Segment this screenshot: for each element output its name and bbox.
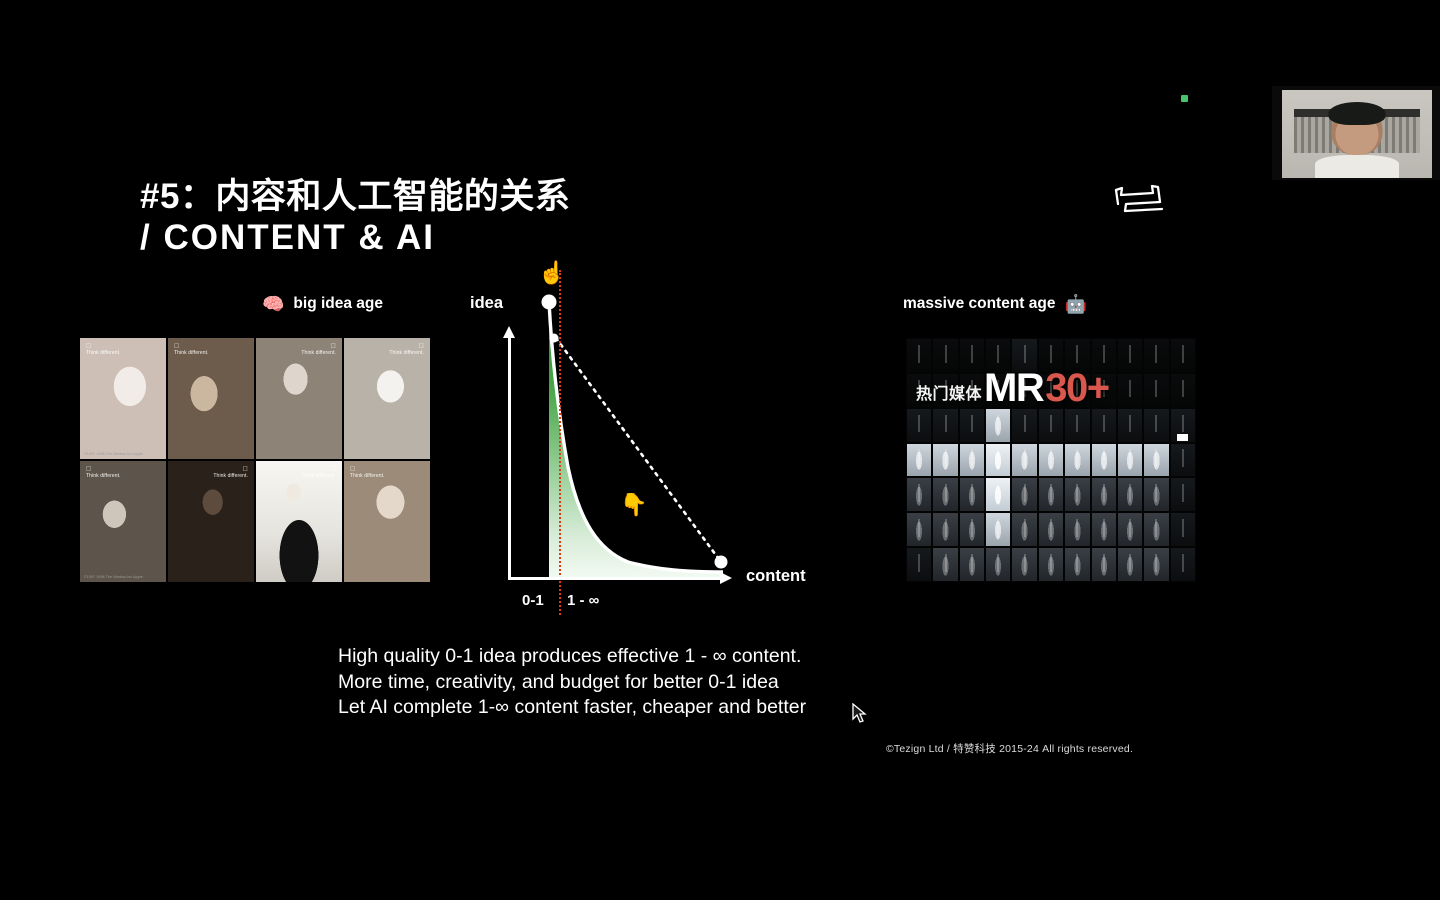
media-tile — [1092, 548, 1116, 581]
media-tile — [1118, 444, 1142, 477]
apple-logo-icon: Think different. — [174, 343, 209, 356]
media-tile — [933, 478, 957, 511]
media-tile — [1092, 409, 1116, 442]
poster-item: Think different. ©1997 1998 The Nimbus … — [80, 461, 166, 582]
media-tile — [907, 444, 931, 477]
poster-credit: ©1997 1998 The Nimbus Inc Apple — [84, 575, 143, 579]
poster-credit: ©1997 1998 The Nimbus Inc Apple — [84, 452, 143, 456]
media-tile — [907, 478, 931, 511]
media-wall-title-mr: MR — [984, 370, 1043, 407]
slide-canvas: #5：内容和人工智能的关系 / CONTENT & AI 🧠 big idea … — [0, 0, 1440, 900]
media-tile — [1039, 409, 1063, 442]
media-tile — [960, 339, 984, 372]
x-axis-label: content — [746, 567, 806, 586]
media-tile — [1171, 478, 1195, 511]
media-tile — [933, 339, 957, 372]
content-end-dot — [715, 556, 728, 569]
poster-item: Think different. — [168, 338, 254, 459]
media-tile — [986, 444, 1010, 477]
idea-peak-dot — [542, 295, 557, 310]
media-tile — [1118, 374, 1142, 407]
apple-logo-icon: Think different. — [389, 343, 424, 356]
media-tile — [933, 548, 957, 581]
media-tile — [1012, 513, 1036, 546]
poster-logo-text: Think different. — [301, 350, 336, 356]
poster-logo-text: Think different. — [174, 350, 209, 356]
apple-logo-icon: Think different. — [86, 343, 121, 356]
media-tile — [1144, 548, 1168, 581]
media-tile — [1065, 409, 1089, 442]
right-section-caption: massive content age 🤖 — [903, 295, 1087, 313]
poster-item: Think different. — [344, 461, 430, 582]
media-tile — [1171, 374, 1195, 407]
media-tile — [1171, 548, 1195, 581]
media-wall-highlight-marker — [1177, 434, 1188, 441]
poster-item: Think different. — [344, 338, 430, 459]
media-tile — [960, 478, 984, 511]
media-tile — [1118, 409, 1142, 442]
poster-item: Think different. — [256, 461, 342, 582]
media-wall-title-cn: 热门媒体 — [916, 380, 982, 407]
phase-divider-line — [559, 270, 561, 615]
media-tile — [1171, 444, 1195, 477]
recording-indicator-icon — [1181, 95, 1188, 102]
mouse-pointer-icon — [852, 703, 868, 725]
x-axis-arrow-icon — [720, 572, 732, 584]
media-tile — [1144, 374, 1168, 407]
poster-logo-text: Think different. — [389, 350, 424, 356]
media-tile — [1012, 409, 1036, 442]
poster-item: Think different. ©1997 1998 The Nimbus … — [80, 338, 166, 459]
chart-area-fill — [549, 302, 723, 578]
robot-icon: 🤖 — [1064, 295, 1086, 313]
media-tile — [960, 444, 984, 477]
media-tile — [1012, 478, 1036, 511]
media-tile — [907, 409, 931, 442]
apple-logo-icon: Think different. — [301, 343, 336, 356]
body-line-2: More time, creativity, and budget for be… — [338, 670, 806, 696]
mr30-media-wall: 热门媒体 MR 30+ — [906, 338, 1196, 582]
y-axis-label: idea — [470, 294, 503, 313]
page-title-line-1: #5：内容和人工智能的关系 — [140, 176, 570, 217]
media-tile — [1144, 409, 1168, 442]
media-tile — [1039, 444, 1063, 477]
media-tile — [1118, 548, 1142, 581]
x-tick-label-1-inf: 1 - ∞ — [567, 592, 599, 609]
slide-body-text: High quality 0-1 idea produces effective… — [338, 644, 806, 721]
media-wall-title-30: 30+ — [1045, 370, 1108, 407]
poster-logo-text: Think different. — [213, 473, 248, 479]
poster-logo-text: Think different. — [350, 473, 385, 479]
think-different-poster-grid: Think different. ©1997 1998 The Nimbus … — [80, 338, 430, 582]
media-tile — [1065, 478, 1089, 511]
presenter-shirt — [1315, 155, 1399, 178]
media-tile — [986, 478, 1010, 511]
media-tile — [1118, 513, 1142, 546]
hand-pointing-down-icon: 👇 — [620, 494, 647, 516]
media-tile — [986, 513, 1010, 546]
media-tile — [1144, 478, 1168, 511]
webcam-room — [1282, 90, 1432, 178]
y-axis-arrow-icon — [503, 326, 515, 338]
poster-item: Think different. — [168, 461, 254, 582]
presenter-hair — [1329, 102, 1386, 125]
media-tile — [1039, 478, 1063, 511]
media-tile — [1171, 513, 1195, 546]
y-axis — [508, 336, 511, 580]
media-tile — [933, 444, 957, 477]
media-tile — [1118, 478, 1142, 511]
x-axis — [508, 577, 723, 580]
presenter-webcam-feed[interactable] — [1272, 86, 1440, 180]
media-tile — [1012, 444, 1036, 477]
left-section-caption: 🧠 big idea age — [262, 295, 383, 313]
idea-content-chart: idea content 0-1 1 - ∞ ☝ 👇 — [478, 262, 878, 622]
media-tile — [1171, 339, 1195, 372]
media-tile — [960, 513, 984, 546]
media-tile — [933, 513, 957, 546]
media-tile — [1144, 444, 1168, 477]
media-tile — [1144, 513, 1168, 546]
page-title: #5：内容和人工智能的关系 / CONTENT & AI — [140, 176, 570, 259]
apple-logo-icon: Think different. — [86, 466, 121, 479]
chart-plot — [478, 262, 878, 622]
media-tile — [1144, 339, 1168, 372]
media-tile — [1092, 513, 1116, 546]
page-title-line-2: / CONTENT & AI — [140, 217, 570, 258]
x-tick-label-0-1: 0-1 — [522, 592, 544, 609]
poster-logo-text: Think different. — [86, 473, 121, 479]
poster-item: Think different. — [256, 338, 342, 459]
media-tile — [1012, 548, 1036, 581]
media-tile — [907, 339, 931, 372]
media-tile — [907, 548, 931, 581]
idea-second-dot — [550, 334, 559, 343]
apple-logo-icon: Think different. — [213, 466, 248, 479]
apple-logo-icon: Think different. — [350, 466, 385, 479]
media-tile — [1065, 444, 1089, 477]
brain-icon: 🧠 — [262, 295, 284, 313]
media-tile — [1065, 548, 1089, 581]
media-wall-title: 热门媒体 MR 30+ — [916, 370, 1109, 407]
body-line-3: Let AI complete 1-∞ content faster, chea… — [338, 695, 806, 721]
right-caption-label: massive content age — [903, 295, 1055, 313]
media-tile — [1039, 513, 1063, 546]
left-caption-label: big idea age — [293, 295, 383, 313]
media-tile — [1065, 513, 1089, 546]
media-tile — [986, 548, 1010, 581]
poster-logo-text: Think different. — [301, 473, 336, 479]
media-tile — [1118, 339, 1142, 372]
media-tile — [1039, 548, 1063, 581]
media-tile — [960, 548, 984, 581]
media-tile — [933, 409, 957, 442]
media-tile — [1092, 478, 1116, 511]
copyright-footer: ©Tezign Ltd / 特赞科技 2015-24 All rights re… — [886, 741, 1133, 756]
media-tile — [960, 409, 984, 442]
apple-logo-icon: Think different. — [301, 466, 336, 479]
hand-pointing-up-icon: ☝ — [538, 262, 565, 284]
media-tile — [907, 513, 931, 546]
media-tile — [1092, 444, 1116, 477]
media-tile — [986, 409, 1010, 442]
body-line-1: High quality 0-1 idea produces effective… — [338, 644, 806, 670]
poster-logo-text: Think different. — [86, 350, 121, 356]
annotation-scribble-icon — [1108, 178, 1170, 220]
